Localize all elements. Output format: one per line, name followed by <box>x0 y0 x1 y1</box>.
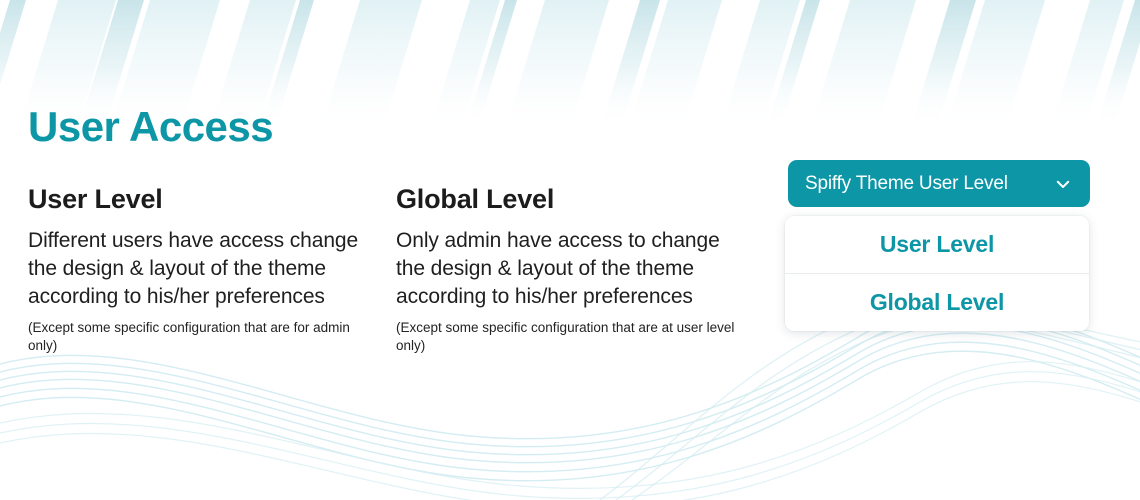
theme-level-dropdown: Spiffy Theme User Level User Level Globa… <box>785 160 1089 331</box>
dropdown-option-user-level[interactable]: User Level <box>785 216 1089 273</box>
dropdown-option-global-level[interactable]: Global Level <box>785 273 1089 331</box>
column-note-text: (Except some specific configuration that… <box>28 319 368 355</box>
chevron-down-glyph <box>1054 175 1072 193</box>
dropdown-options-panel: User Level Global Level <box>785 216 1089 331</box>
chevron-down-icon[interactable] <box>1053 174 1073 194</box>
dropdown-toggle-button[interactable]: Spiffy Theme User Level <box>788 160 1090 207</box>
column-body-text: Different users have access change the d… <box>28 227 368 311</box>
column-note-text: (Except some specific configuration that… <box>396 319 736 355</box>
column-global-level: Global Level Only admin have access to c… <box>396 184 736 355</box>
column-body-text: Only admin have access to change the des… <box>396 227 736 311</box>
column-user-level: User Level Different users have access c… <box>28 184 368 355</box>
page-title: User Access <box>28 106 273 148</box>
column-heading: Global Level <box>396 184 736 215</box>
dropdown-selected-label: Spiffy Theme User Level <box>805 173 1008 195</box>
column-heading: User Level <box>28 184 368 215</box>
slide-content: User Access User Level Different users h… <box>0 0 1140 500</box>
